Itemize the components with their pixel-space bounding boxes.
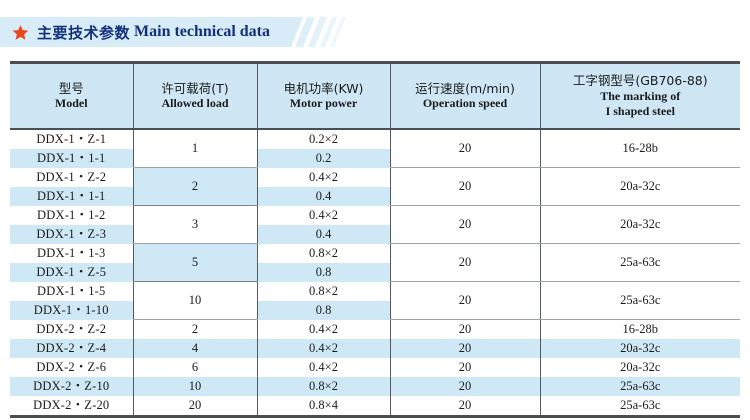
table-body: DDX-1・Z-110.2×22016-28bDDX-1・1-10.2DDX-1… <box>10 129 740 417</box>
cell-motor-power: 0.4×2 <box>257 320 390 340</box>
table-row: DDX-2・Z-440.4×22020a-32c <box>10 339 740 358</box>
page-title-cn: 主要技术参数 <box>37 22 130 43</box>
table-row: DDX-1・1-230.4×22020a-32c <box>10 206 740 225</box>
cell-allowed-load: 1 <box>133 129 257 168</box>
cell-model: DDX-1・1-1 <box>10 187 133 206</box>
column-header-operation-speed-cn: 运行速度(m/min) <box>393 81 538 97</box>
cell-model: DDX-1・1-3 <box>10 244 133 263</box>
table-row: DDX-1・1-5100.8×22025a-63c <box>10 282 740 301</box>
cell-allowed-load: 3 <box>133 206 257 244</box>
cell-model: DDX-2・Z-6 <box>10 358 133 377</box>
table-row: DDX-2・Z-220.4×22016-28b <box>10 320 740 340</box>
cell-model: DDX-2・Z-2 <box>10 320 133 340</box>
cell-motor-power: 0.8×4 <box>257 396 390 417</box>
cell-operation-speed: 20 <box>390 206 540 244</box>
cell-steel-marking: 25a-63c <box>540 396 740 417</box>
cell-operation-speed: 20 <box>390 396 540 417</box>
column-header-motor-power-en: Motor power <box>260 96 388 111</box>
column-header-steel-marking-cn: 工字钢型号(GB706-88) <box>543 73 739 89</box>
page-title-banner: 主要技术参数 Main technical data <box>0 17 750 47</box>
column-header-allowed-load: 许可载荷(T) Allowed load <box>133 63 257 129</box>
cell-motor-power: 0.4×2 <box>257 339 390 358</box>
cell-allowed-load: 5 <box>133 244 257 282</box>
cell-steel-marking: 16-28b <box>540 320 740 340</box>
cell-operation-speed: 20 <box>390 282 540 320</box>
column-header-operation-speed: 运行速度(m/min) Operation speed <box>390 63 540 129</box>
cell-steel-marking: 20a-32c <box>540 358 740 377</box>
star-icon <box>12 24 29 41</box>
cell-motor-power: 0.4×2 <box>257 206 390 225</box>
cell-steel-marking: 25a-63c <box>540 377 740 396</box>
cell-motor-power: 0.2×2 <box>257 129 390 149</box>
table-row: DDX-1・Z-220.4×22020a-32c <box>10 168 740 187</box>
banner-stripe-decoration <box>286 17 346 47</box>
cell-model: DDX-1・1-2 <box>10 206 133 225</box>
cell-model: DDX-2・Z-10 <box>10 377 133 396</box>
column-header-allowed-load-cn: 许可载荷(T) <box>136 81 255 97</box>
page-title-en: Main technical data <box>134 23 270 41</box>
cell-motor-power: 0.8×2 <box>257 282 390 301</box>
column-header-motor-power-cn: 电机功率(KW) <box>260 81 388 97</box>
cell-model: DDX-1・1-1 <box>10 149 133 168</box>
cell-allowed-load: 4 <box>133 339 257 358</box>
technical-data-table-container: 型号 Model 许可载荷(T) Allowed load 电机功率(KW) M… <box>10 61 740 418</box>
cell-steel-marking: 25a-63c <box>540 282 740 320</box>
cell-motor-power: 0.4 <box>257 187 390 206</box>
cell-allowed-load: 20 <box>133 396 257 417</box>
cell-motor-power: 0.8 <box>257 263 390 282</box>
cell-steel-marking: 20a-32c <box>540 206 740 244</box>
column-header-motor-power: 电机功率(KW) Motor power <box>257 63 390 129</box>
column-header-steel-marking-en2: I shaped steel <box>543 104 739 119</box>
cell-operation-speed: 20 <box>390 320 540 340</box>
cell-motor-power: 0.8×2 <box>257 377 390 396</box>
cell-operation-speed: 20 <box>390 168 540 206</box>
cell-model: DDX-1・Z-2 <box>10 168 133 187</box>
cell-allowed-load: 10 <box>133 377 257 396</box>
cell-model: DDX-1・Z-5 <box>10 263 133 282</box>
cell-allowed-load: 2 <box>133 320 257 340</box>
table-row: DDX-1・Z-110.2×22016-28b <box>10 129 740 149</box>
cell-model: DDX-2・Z-20 <box>10 396 133 417</box>
cell-operation-speed: 20 <box>390 377 540 396</box>
cell-steel-marking: 20a-32c <box>540 168 740 206</box>
cell-model: DDX-1・1-10 <box>10 301 133 320</box>
cell-model: DDX-2・Z-4 <box>10 339 133 358</box>
cell-operation-speed: 20 <box>390 244 540 282</box>
column-header-allowed-load-en: Allowed load <box>136 96 255 111</box>
table-row: DDX-2・Z-660.4×22020a-32c <box>10 358 740 377</box>
cell-motor-power: 0.4×2 <box>257 168 390 187</box>
table-header-row: 型号 Model 许可载荷(T) Allowed load 电机功率(KW) M… <box>10 63 740 129</box>
cell-steel-marking: 20a-32c <box>540 339 740 358</box>
cell-steel-marking: 16-28b <box>540 129 740 168</box>
cell-motor-power: 0.8 <box>257 301 390 320</box>
cell-model: DDX-1・Z-1 <box>10 129 133 149</box>
column-header-steel-marking-en: The marking of <box>543 89 739 104</box>
cell-model: DDX-1・1-5 <box>10 282 133 301</box>
cell-model: DDX-1・Z-3 <box>10 225 133 244</box>
cell-motor-power: 0.4×2 <box>257 358 390 377</box>
cell-allowed-load: 10 <box>133 282 257 320</box>
cell-motor-power: 0.4 <box>257 225 390 244</box>
column-header-model: 型号 Model <box>10 63 133 129</box>
cell-motor-power: 0.2 <box>257 149 390 168</box>
cell-steel-marking: 25a-63c <box>540 244 740 282</box>
cell-allowed-load: 6 <box>133 358 257 377</box>
column-header-model-en: Model <box>12 96 131 111</box>
technical-data-table: 型号 Model 许可载荷(T) Allowed load 电机功率(KW) M… <box>10 61 740 418</box>
column-header-steel-marking: 工字钢型号(GB706-88) The marking of I shaped … <box>540 63 740 129</box>
cell-operation-speed: 20 <box>390 339 540 358</box>
cell-motor-power: 0.8×2 <box>257 244 390 263</box>
table-row: DDX-2・Z-10100.8×22025a-63c <box>10 377 740 396</box>
cell-operation-speed: 20 <box>390 358 540 377</box>
table-row: DDX-2・Z-20200.8×42025a-63c <box>10 396 740 417</box>
table-row: DDX-1・1-350.8×22025a-63c <box>10 244 740 263</box>
column-header-operation-speed-en: Operation speed <box>393 96 538 111</box>
cell-allowed-load: 2 <box>133 168 257 206</box>
column-header-model-cn: 型号 <box>12 81 131 97</box>
cell-operation-speed: 20 <box>390 129 540 168</box>
